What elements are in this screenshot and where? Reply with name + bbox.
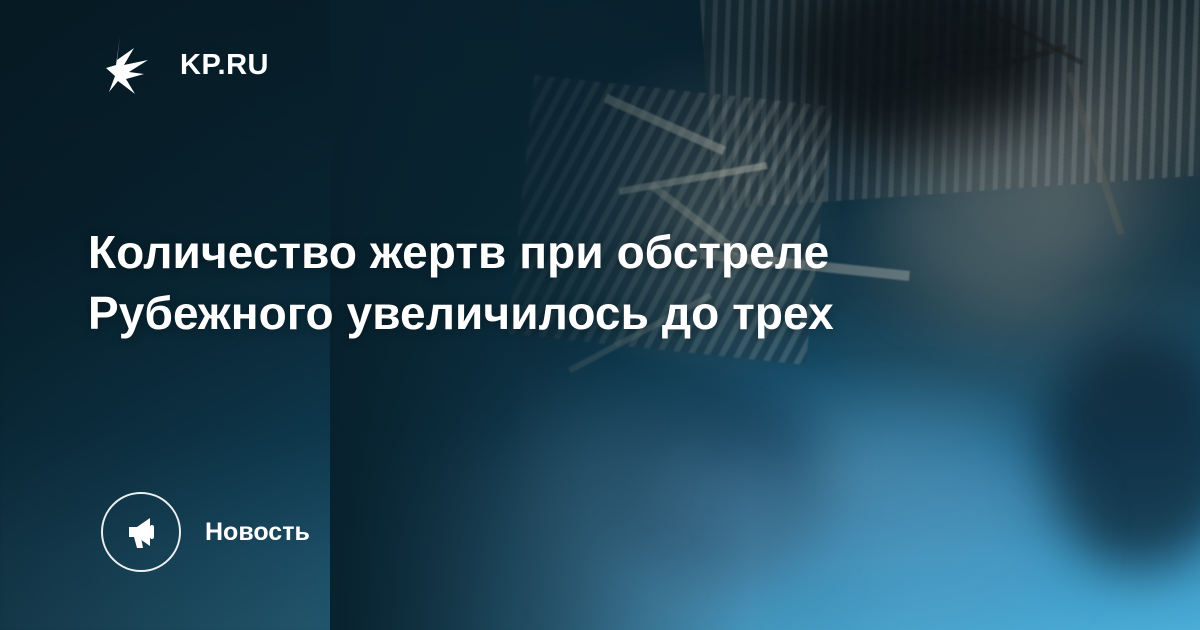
megaphone-glyph	[120, 511, 162, 553]
category-badge-label: Новость	[205, 518, 310, 547]
card-content: KP.RU Количество жертв при обстреле Рубе…	[0, 0, 1200, 630]
brand-name: KP.RU	[180, 49, 269, 82]
page-title: Количество жертв при обстреле Рубежного …	[88, 222, 1048, 343]
news-share-card: KP.RU Количество жертв при обстреле Рубе…	[0, 0, 1200, 630]
brand-lockup[interactable]: KP.RU	[104, 34, 269, 96]
category-badge[interactable]: Новость	[101, 492, 310, 572]
kp-bird-logo-icon	[104, 34, 162, 96]
megaphone-icon	[101, 492, 181, 572]
